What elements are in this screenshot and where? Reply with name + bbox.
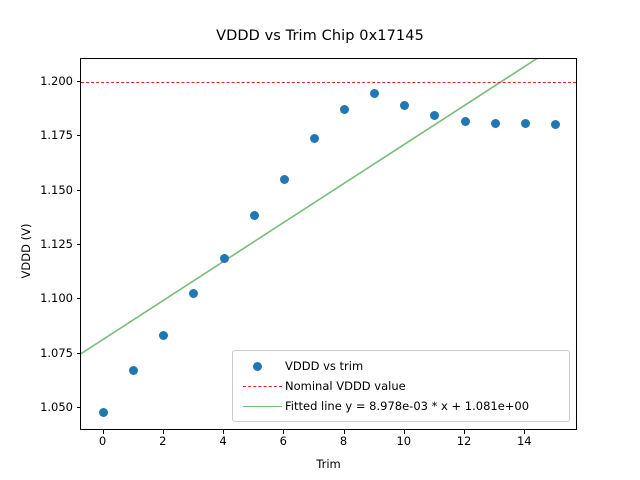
chart-title: VDDD vs Trim Chip 0x17145 — [0, 28, 640, 44]
legend-key-dash-icon — [241, 376, 285, 396]
data-point — [129, 366, 138, 375]
x-tick-mark — [223, 430, 224, 434]
x-tick-mark — [404, 430, 405, 434]
x-tick-label: 14 — [504, 434, 544, 448]
data-point — [461, 117, 470, 126]
y-tick-label: 1.100 — [0, 291, 73, 305]
data-point — [310, 134, 319, 143]
legend: VDDD vs trimNominal VDDD valueFitted lin… — [232, 350, 570, 422]
x-tick-mark — [464, 430, 465, 434]
y-tick-label: 1.175 — [0, 128, 73, 142]
data-point — [340, 105, 349, 114]
x-tick-mark — [283, 430, 284, 434]
y-tick-label: 1.125 — [0, 237, 73, 251]
x-tick-mark — [103, 430, 104, 434]
y-tick-label: 1.050 — [0, 400, 73, 414]
y-tick-label: 1.200 — [0, 74, 73, 88]
x-tick-label: 12 — [444, 434, 484, 448]
legend-label: Nominal VDDD value — [285, 379, 406, 393]
legend-label: VDDD vs trim — [285, 359, 363, 373]
x-tick-label: 4 — [203, 434, 243, 448]
nominal-vddd-line — [81, 82, 576, 83]
data-point — [491, 119, 500, 128]
legend-item[interactable]: Nominal VDDD value — [241, 376, 561, 396]
data-point — [521, 119, 530, 128]
data-point — [250, 211, 259, 220]
x-tick-mark — [524, 430, 525, 434]
x-tick-mark — [163, 430, 164, 434]
data-point — [280, 175, 289, 184]
x-tick-mark — [344, 430, 345, 434]
x-tick-label: 6 — [263, 434, 303, 448]
y-tick-label: 1.075 — [0, 346, 73, 360]
x-tick-label: 8 — [324, 434, 364, 448]
legend-key-solid-icon — [241, 396, 285, 416]
data-point — [551, 120, 560, 129]
legend-label: Fitted line y = 8.978e-03 * x + 1.081e+0… — [285, 399, 529, 413]
legend-item[interactable]: Fitted line y = 8.978e-03 * x + 1.081e+0… — [241, 396, 561, 416]
x-tick-label: 0 — [83, 434, 123, 448]
legend-item[interactable]: VDDD vs trim — [241, 356, 561, 376]
legend-key-dot-icon — [241, 356, 285, 376]
x-tick-label: 10 — [384, 434, 424, 448]
data-point — [220, 254, 229, 263]
x-axis-label: Trim — [80, 457, 577, 471]
matplotlib-figure: VDDD vs Trim Chip 0x17145 VDDD (V) Trim … — [0, 0, 640, 480]
data-point — [99, 408, 108, 417]
x-tick-label: 2 — [143, 434, 183, 448]
y-tick-label: 1.150 — [0, 183, 73, 197]
